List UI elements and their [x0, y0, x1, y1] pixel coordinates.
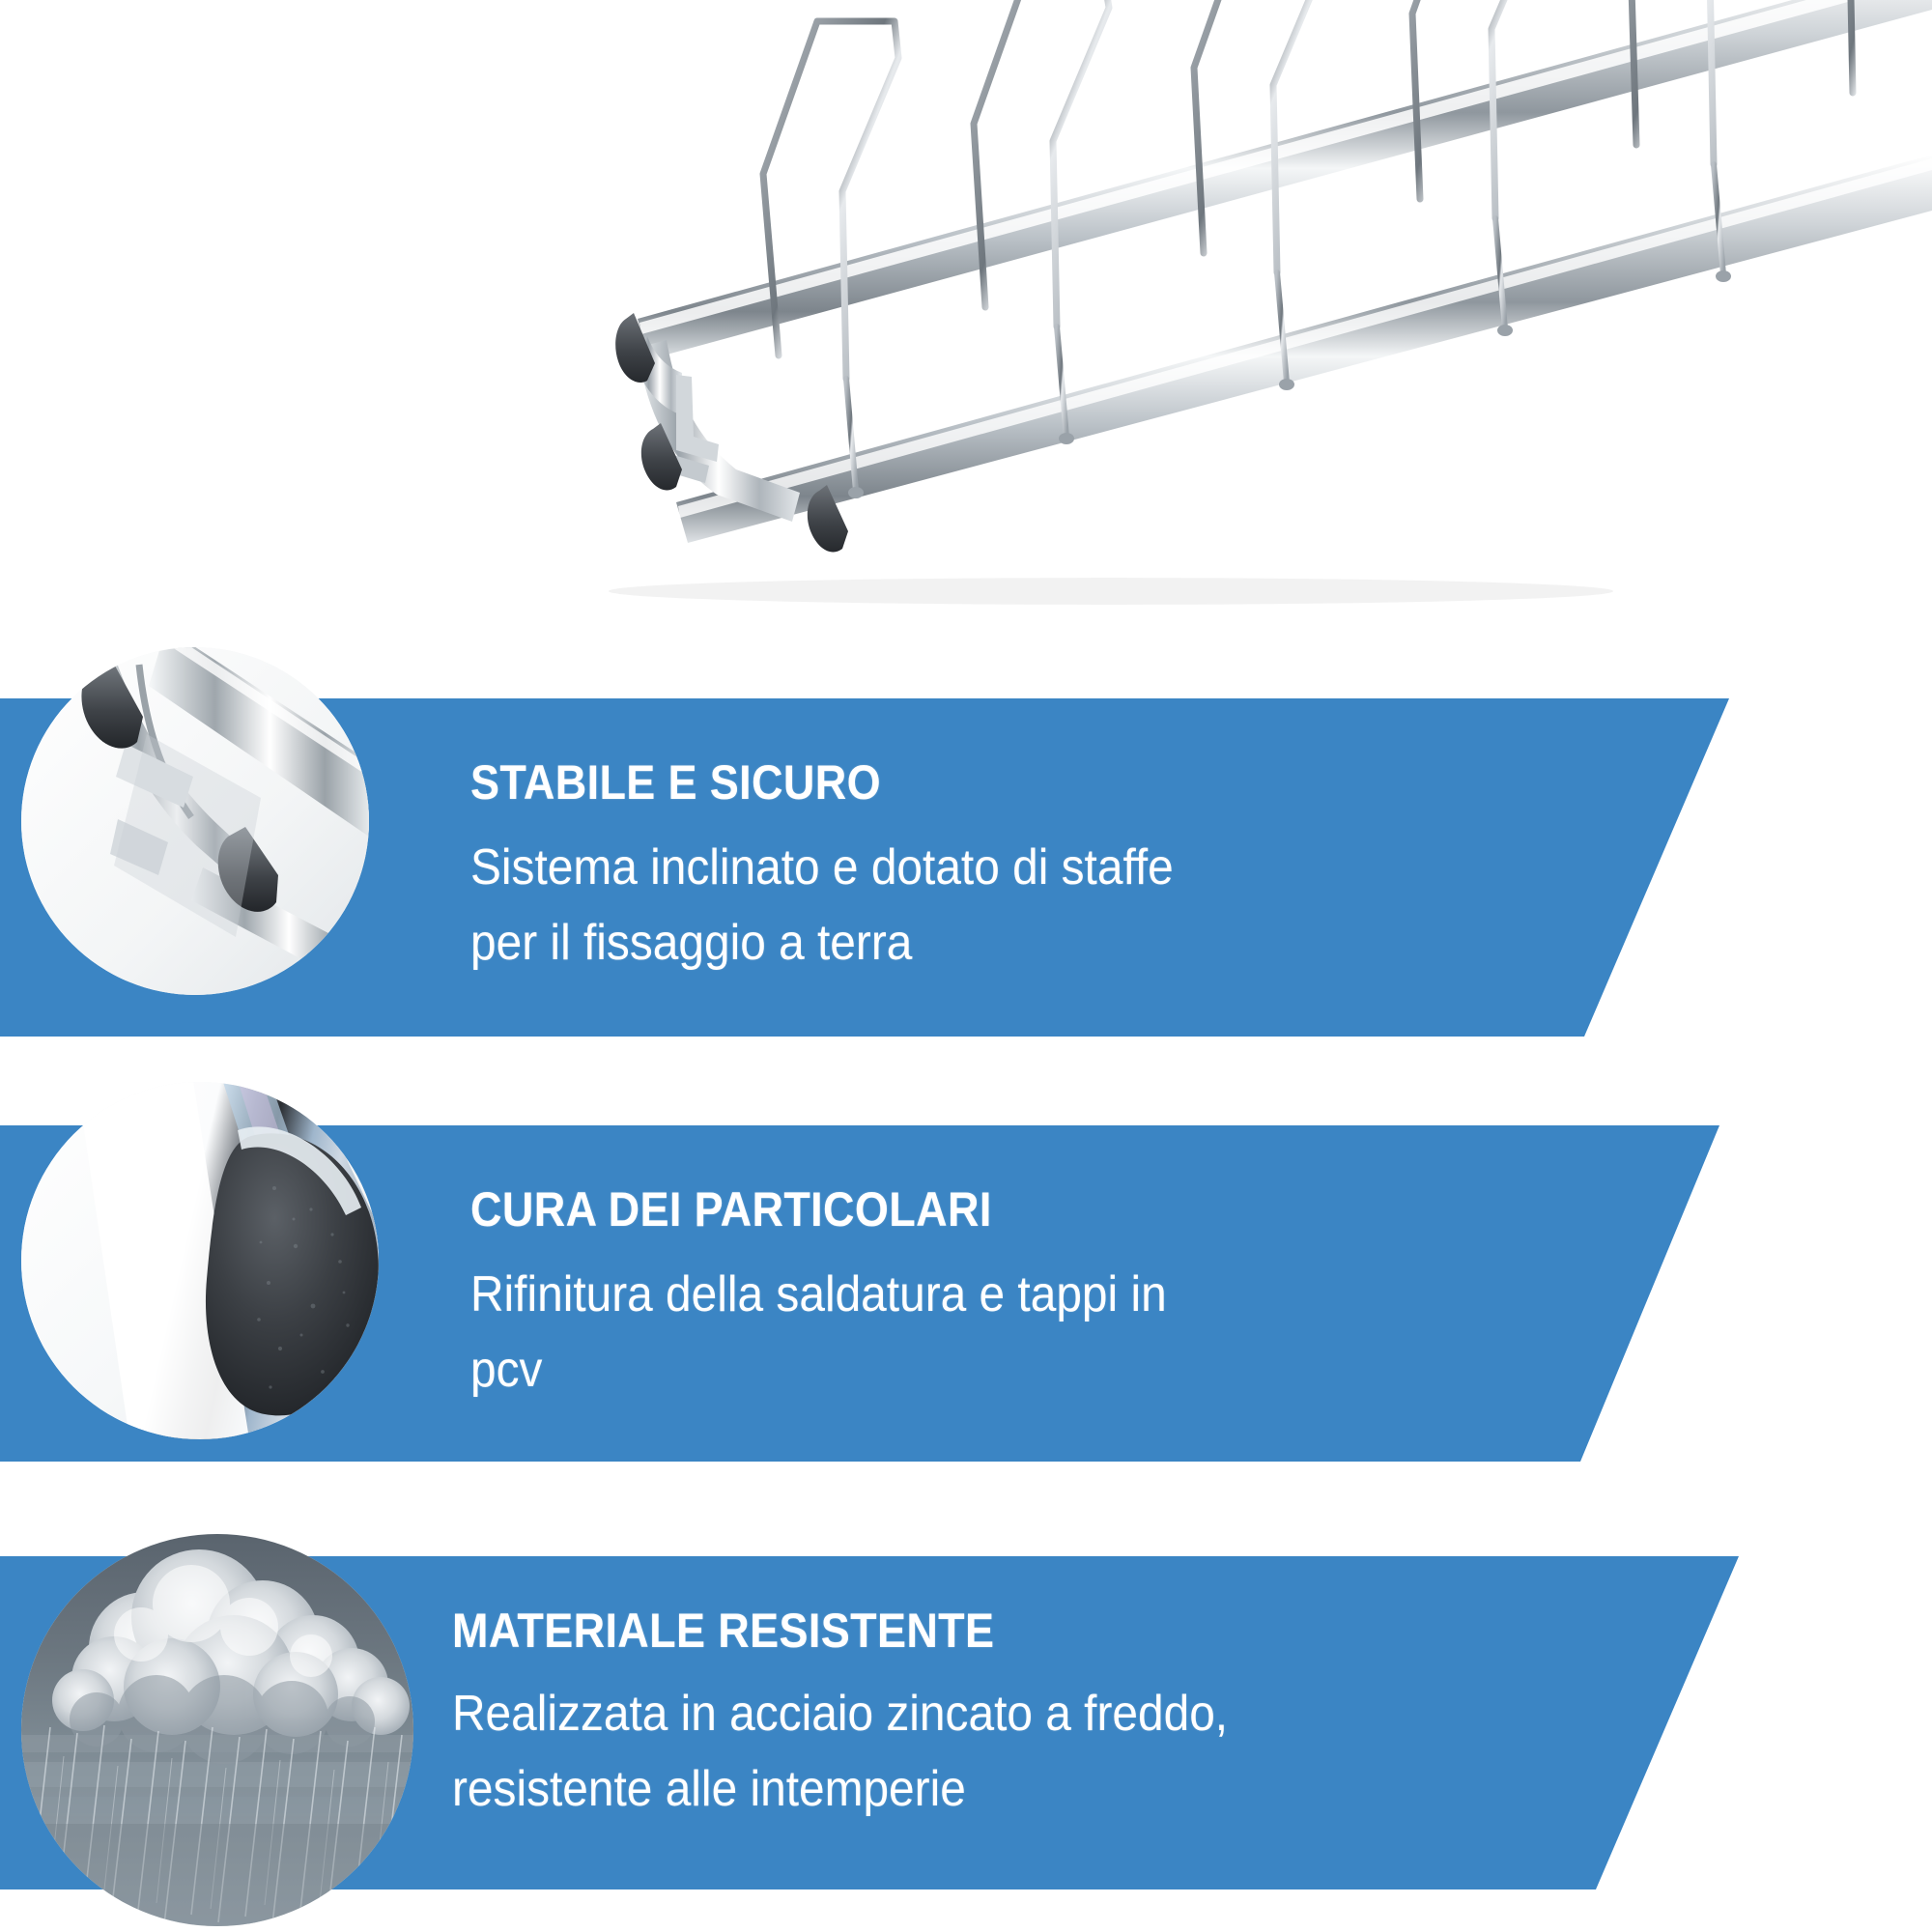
feature-heading: CURA DEI PARTICOLARI	[470, 1185, 1444, 1234]
feature-text-column: STABILE E SICURO Sistema inclinato e dot…	[470, 698, 1552, 980]
hero-product-image	[0, 0, 1932, 676]
feature-body-line-1: Sistema inclinato e dotato di staffe	[470, 830, 1520, 905]
pvc-end-cap-closeup-photo	[21, 1082, 379, 1439]
feature-text-column: MATERIALE RESISTENTE Realizzata in accia…	[452, 1556, 1573, 1827]
feature-body-line-2: pcv	[470, 1332, 1520, 1407]
bike-rack-ground-bracket-photo	[21, 647, 369, 995]
feature-text-column: CURA DEI PARTICOLARI Rifinitura della sa…	[470, 1125, 1552, 1407]
feature-panel-cura-dei-particolari: CURA DEI PARTICOLARI Rifinitura della sa…	[0, 1125, 1932, 1462]
feature-panel-stabile-e-sicuro: STABILE E SICURO Sistema inclinato e dot…	[0, 698, 1932, 1037]
feature-thumbnail-storm-cloud	[21, 1534, 413, 1926]
feature-body-line-1: Realizzata in acciaio zincato a freddo,	[452, 1676, 1536, 1751]
feature-thumbnail-pvc-end-cap	[21, 1082, 379, 1439]
storm-cloud-rain-photo	[21, 1534, 413, 1926]
feature-body-line-2: resistente alle intemperie	[452, 1751, 1536, 1827]
bike-rack-image	[0, 0, 1932, 676]
feature-body-line-1: Rifinitura della saldatura e tappi in	[470, 1257, 1520, 1332]
feature-heading: STABILE E SICURO	[470, 758, 1444, 807]
feature-panel-materiale-resistente: MATERIALE RESISTENTE Realizzata in accia…	[0, 1556, 1932, 1889]
feature-heading: MATERIALE RESISTENTE	[452, 1606, 1461, 1655]
feature-body-line-2: per il fissaggio a terra	[470, 905, 1520, 980]
feature-thumbnail-bike-rack-bracket	[21, 647, 369, 995]
